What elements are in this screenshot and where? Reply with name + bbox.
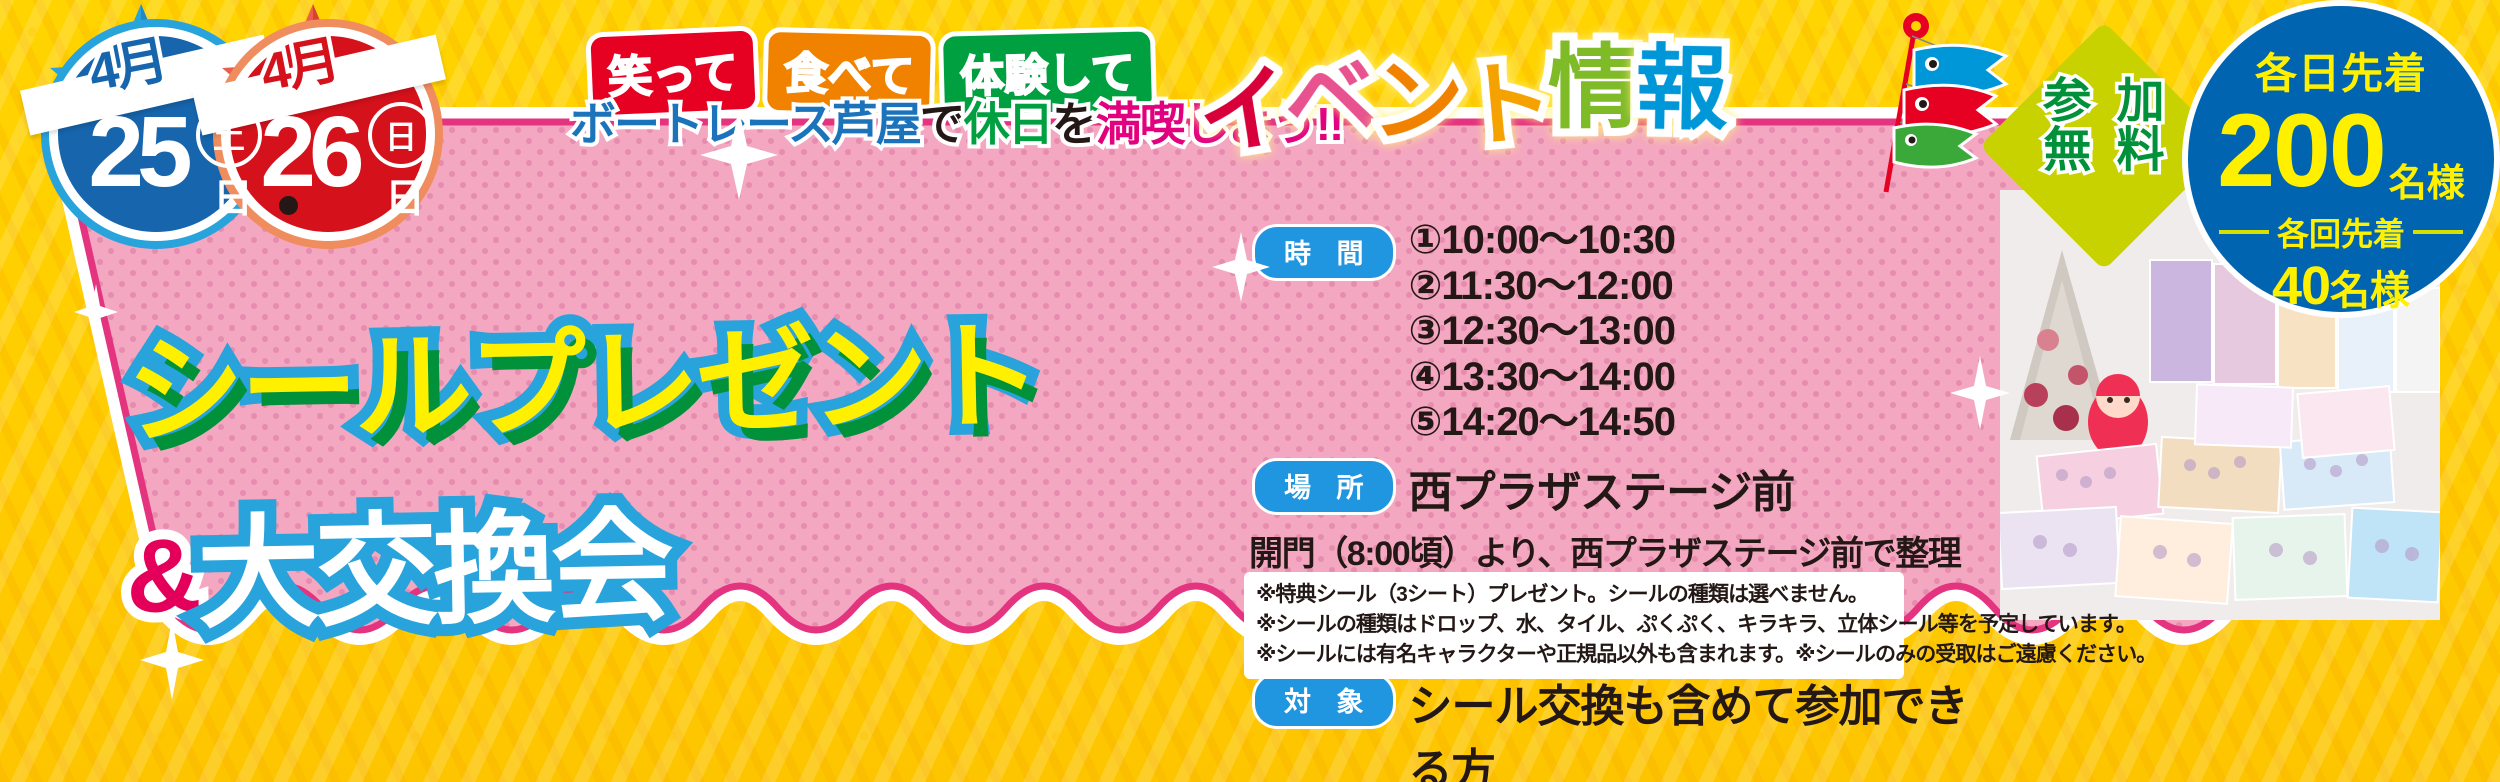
capacity-number-2: 40 [2272,256,2330,316]
date-dayofweek: 土 [196,102,262,168]
event-heading-char-3: ン [1370,26,1463,162]
capacity-number: 200 [2217,103,2385,201]
date-nichi: 日 [208,166,258,224]
sub-copy-holiday: 休日 [964,98,1052,150]
time-slot-line-1: ①10:00〜10:30②11:30〜12:00 [1409,218,1975,309]
event-banner: 4月 25 土 日 4月 26 日 日 笑って 食べて 体験して ボートレース芦… [0,0,2500,782]
capacity-rule-right [2413,230,2463,234]
event-heading-char-6: 報 [1635,14,1725,149]
time-label-tag: 時 間 [1255,227,1393,278]
info-row-target: 対 象 シール交換も含めて参加できる方 [1255,666,1975,782]
target-value: シール交換も含めて参加できる方 [1409,670,1975,782]
event-heading-char-5: 情 [1548,13,1636,146]
capacity-mid-row: 各回先着 [2188,209,2494,255]
place-value: 西プラザステージ前 [1409,456,1795,520]
event-info-block: 時 間 ①10:00〜10:30②11:30〜12:00 ③12:30〜13:0… [1255,218,1975,782]
capacity-main-row: 200名様 [2188,101,2494,207]
date-month: 4月 [254,17,344,105]
footnote-2: ※シールの種類はドロップ、水、タイル、ぷくぷく、キラキラ、立体シール等を予定して… [1256,610,1892,640]
sub-copy-wo: を [1052,98,1096,150]
event-heading-char-2: ベ [1279,22,1376,161]
time-slot-2: ②11:30〜12:00 [1409,264,1719,310]
capacity-top-label: 各日先着 [2188,40,2494,101]
footnotes-box: ※特典シール（3シート）プレゼント。シールの種類は選べません。 ※シールの種類は… [1244,572,1904,679]
capacity-secondary-row: 40名様 [2188,255,2494,317]
free-entry-line1: 参 加 [2012,78,2196,127]
time-slot-line-2: ③12:30〜13:00④13:30〜14:00 [1409,309,1975,400]
free-entry-text: 参 加 無 料 [2012,78,2196,176]
footnote-1: ※特典シール（3シート）プレゼント。シールの種類は選べません。 [1256,580,1892,610]
sub-copy-venue: ボートレース芦屋 [570,98,920,150]
date-nichi: 日 [380,166,430,224]
event-heading-char-1: イ [1187,32,1295,177]
event-heading-char-4: ト [1455,27,1554,167]
capacity-unit-2: 名様 [2330,269,2410,313]
main-title-ampersand: & [125,518,198,635]
info-row-time: 時 間 ①10:00〜10:30②11:30〜12:00 ③12:30〜13:0… [1255,218,1975,446]
time-slot-5: ⑤14:20〜14:50 [1409,400,1719,446]
date-day: 25 [62,102,212,202]
time-slots: ①10:00〜10:30②11:30〜12:00 ③12:30〜13:00④13… [1409,218,1975,446]
capacity-unit: 名様 [2389,152,2465,207]
main-title-line2: &大交換会 [125,461,1040,654]
date-dayofweek: 日 [368,102,434,168]
main-title-exchange: 大交換会 [196,498,670,642]
info-row-place: 場 所 西プラザステージ前 [1255,452,1975,520]
target-label-tag: 対 象 [1255,675,1393,726]
time-slot-4: ④13:30〜14:00 [1409,355,1719,401]
date-month: 4月 [82,17,172,105]
green-carp [1894,124,1976,167]
time-slot-3: ③12:30〜13:00 [1409,309,1719,355]
main-title-line1: シールプレゼント [125,280,1040,467]
capacity-mid-label: 各回先着 [2277,209,2405,255]
free-entry-line2: 無 料 [2012,127,2196,176]
place-label-tag: 場 所 [1255,461,1393,512]
footnote-3: ※シールには有名キャラクターや正規品以外も含まれます。※シールのみの受取はご遠慮… [1256,640,1892,670]
time-slot-1: ①10:00〜10:30 [1409,218,1719,264]
capacity-rule-left [2219,230,2269,234]
sub-copy-de: で [920,98,964,150]
time-slot-line-3: ⑤14:20〜14:50 [1409,400,1975,446]
capacity-badge: 各日先着 200名様 各回先着 40名様 [2188,6,2494,312]
event-info-heading: イベント情報 [1194,15,1726,166]
main-title: シールプレゼント &大交換会 [126,288,1038,646]
date-separator-dot [279,196,298,215]
